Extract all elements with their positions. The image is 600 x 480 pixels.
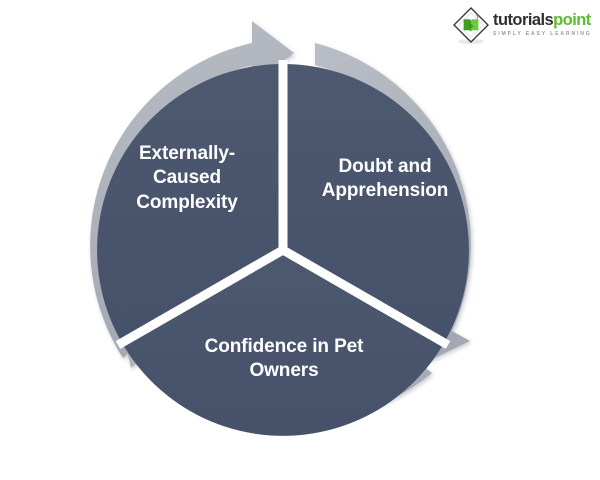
cycle-diagram [0, 0, 600, 480]
logo-tagline: SIMPLY EASY LEARNING [493, 30, 593, 39]
logo-wordmark: tutorialspoint [493, 12, 593, 29]
tutorialspoint-diamond-book-icon [451, 6, 491, 46]
logo-word-point: point [553, 11, 591, 29]
logo-word-tutorials: tutorials [493, 11, 553, 29]
logo-text-block: tutorialspoint SIMPLY EASY LEARNING [493, 12, 593, 39]
tutorialspoint-logo[interactable]: tutorialspoint SIMPLY EASY LEARNING [451, 6, 593, 46]
